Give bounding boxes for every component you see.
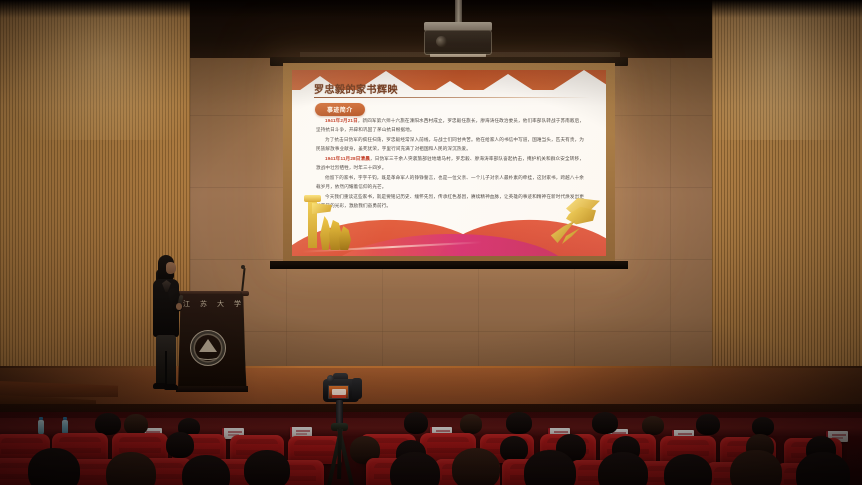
mountain-peak-5 [538, 70, 606, 100]
slide-paragraph: 为了抗击日伪军的疯狂扫荡，罗忠毅经常深入前线，与战士们同甘共苦。他在给家人的书信… [316, 136, 584, 154]
lcd-preview-ribbon [332, 395, 346, 398]
audience-head [696, 414, 720, 435]
bottle-cap [39, 417, 43, 420]
name-card-line [678, 433, 692, 435]
slide-paragraph: 他留下的家书，字字千钧，既是革命军人的铮铮誓言，也是一位父亲、一个儿子对亲人最朴… [316, 174, 584, 192]
presentation-slide: 罗忠毅的家书辉映 事迹简介 1941年2月21日，新四军第六师十六旅在溧阳水西村… [292, 70, 606, 256]
monument-capital [304, 195, 321, 202]
audience-head [506, 412, 532, 434]
highlight-date-1: 1941年2月21日 [325, 118, 358, 123]
camera-lcd-screen [328, 385, 349, 399]
audience-head [404, 412, 428, 434]
podium-university-name: 江 苏 大 学 [183, 299, 241, 309]
podium-char-3: 大 [217, 299, 224, 309]
ceiling-shadow [0, 0, 862, 18]
name-card-line [436, 430, 450, 432]
highlight-date-2: 1941年11月28日清晨 [325, 156, 370, 161]
paragraph-text-2: 为了抗击日伪军的疯狂扫荡，罗忠毅经常深入前线，与战士们同甘共苦。他在给家人的书信… [316, 137, 584, 151]
water-bottle [38, 420, 44, 435]
screen-bottom-bar [270, 261, 628, 269]
name-card-line [296, 433, 307, 435]
audience-head [598, 452, 648, 485]
slide-title: 罗忠毅的家书辉映 [314, 81, 398, 96]
speaker-hand [176, 303, 182, 310]
projector-lens [436, 36, 447, 47]
audience-head [390, 452, 440, 485]
name-card-line [554, 431, 568, 433]
paragraph-text-5: 今天我们重读这些家书，就是要铭记历史、缅怀先烈，传承红色基因，赓续精神血脉，让英… [316, 194, 584, 208]
dove-tail [548, 220, 576, 244]
camera-grip [352, 378, 362, 399]
audience-head [106, 452, 156, 485]
audience-head [124, 414, 148, 435]
gold-monument-graphic [298, 192, 356, 254]
title-underline [314, 97, 590, 98]
right-wall-light-glow [712, 0, 862, 140]
slide-paragraph: 今天我们重读这些家书，就是要铭记历史、缅怀先烈，传承红色基因，赓续精神血脉，让英… [316, 193, 584, 211]
audience-head [752, 417, 774, 436]
audience-head [664, 454, 712, 485]
audience-head [642, 416, 664, 435]
audience-head [95, 413, 121, 435]
projector-mount-rod [455, 0, 462, 24]
podium-base [176, 386, 248, 392]
ceiling-projector [424, 30, 492, 55]
audience-head [460, 414, 482, 434]
slide-paragraph: 1941年2月21日，新四军第六师十六旅在溧阳水西村成立，罗忠毅任旅长，廖海涛任… [316, 117, 584, 135]
speaker-leg-gap [165, 351, 167, 385]
name-card-line [832, 434, 846, 436]
monument-figure-3 [339, 226, 351, 250]
audience-head [730, 450, 782, 485]
audience-head [28, 448, 80, 485]
audience-head [524, 450, 576, 485]
speaker-person [148, 255, 186, 393]
speaker-face [166, 262, 176, 274]
paragraph-text-4: 他留下的家书，字字千钧，既是革命军人的铮铮誓言，也是一位父亲、一个儿子对亲人最朴… [316, 175, 584, 189]
bottle-cap [63, 417, 67, 420]
left-wall-light-glow [0, 0, 190, 140]
speaker-shoe-right [164, 384, 178, 390]
auditorium-photo: 罗忠毅的家书辉映 事迹简介 1941年2月21日，新四军第六师十六旅在溧阳水西村… [0, 0, 862, 485]
name-card-line [296, 430, 310, 432]
name-card-line [228, 431, 242, 433]
slide-body-text: 1941年2月21日，新四军第六师十六旅在溧阳水西村成立，罗忠毅任旅长，廖海涛任… [316, 117, 584, 212]
audience-head [592, 412, 618, 434]
gold-dove-graphic [548, 198, 602, 250]
university-emblem-icon [190, 330, 226, 366]
podium-char-2: 苏 [200, 299, 207, 309]
emblem-triangle [199, 339, 217, 352]
audience-head [166, 432, 194, 458]
slide-paragraph: 1941年11月28日清晨，日伪军三千余人突袭旅部驻地塘马村，罗忠毅、廖海涛率部… [316, 155, 584, 173]
slide-section-badge: 事迹简介 [315, 103, 365, 116]
camera-mode-dial [327, 375, 334, 382]
audience-head [452, 448, 500, 485]
emblem-arc [197, 352, 219, 360]
monument-flag [312, 203, 332, 214]
podium-microphone-head [241, 265, 245, 269]
audience-head [244, 450, 290, 485]
